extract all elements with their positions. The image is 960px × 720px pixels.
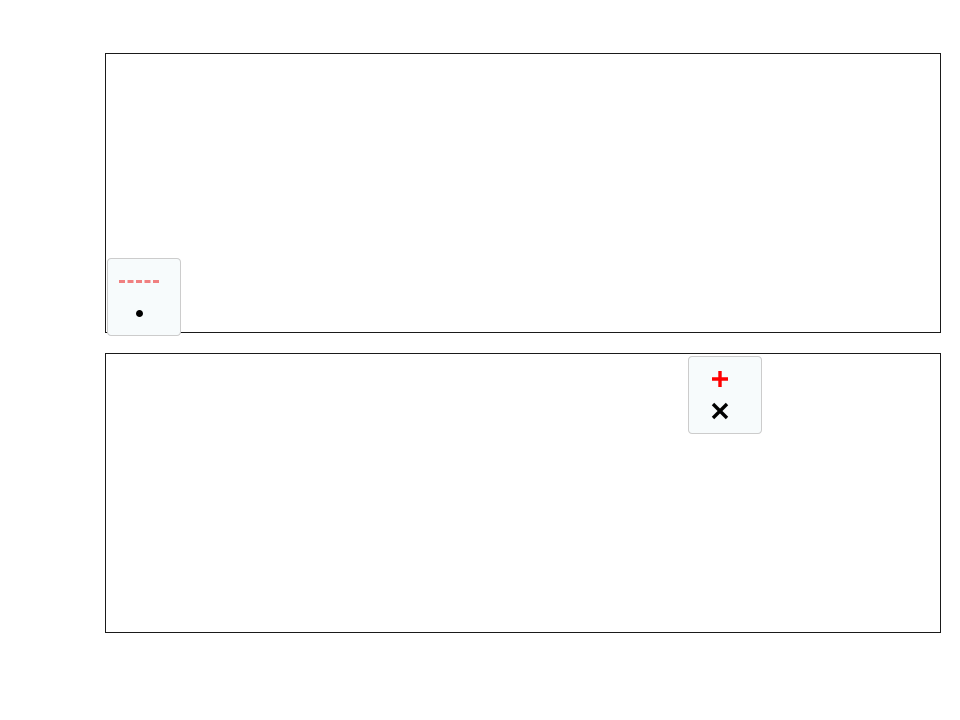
x-marker-icon xyxy=(697,399,743,423)
bottom-plot-canvas xyxy=(106,354,940,632)
figure-canvas xyxy=(0,0,960,720)
dot-marker-icon xyxy=(116,310,162,317)
legend-item-predicted-stars[interactable] xyxy=(697,395,749,427)
bottom-plot-panel xyxy=(105,353,941,633)
legend-item-measurements[interactable] xyxy=(116,297,168,329)
dashed-line-icon xyxy=(116,280,162,283)
top-plot-legend[interactable] xyxy=(107,258,181,336)
plus-marker-icon xyxy=(697,367,743,391)
legend-item-threshold[interactable] xyxy=(116,265,168,297)
top-y-axis-ticks xyxy=(40,53,98,333)
legend-item-matched-stars[interactable] xyxy=(697,363,749,395)
bottom-plot-legend[interactable] xyxy=(688,356,762,434)
bottom-y-axis-ticks xyxy=(40,353,98,633)
top-plot-canvas xyxy=(106,54,940,332)
top-plot-panel xyxy=(105,53,941,333)
